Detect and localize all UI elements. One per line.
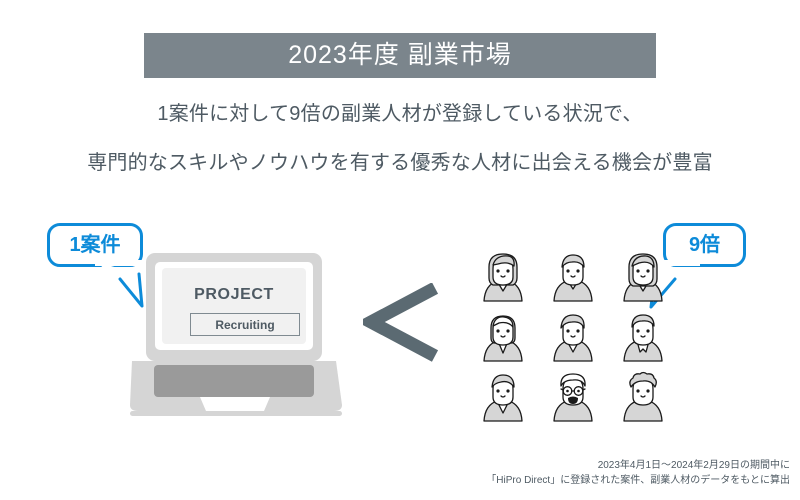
person-avatar-icon [538,245,608,305]
callout-bubble-left-label: 1案件 [69,235,120,255]
people-grid [468,245,678,425]
lead-paragraph: 1案件に対して9倍の副業人材が登録している状況で、 専門的なスキルやノウハウを有… [0,104,800,173]
person-avatar-icon [468,365,538,425]
lead-line-1: 1案件に対して9倍の副業人材が登録している状況で、 [0,104,800,124]
page-title: 2023年度 副業市場 [288,43,512,68]
person-avatar-icon [608,305,678,365]
page-title-banner: 2023年度 副業市場 [144,33,656,78]
person-avatar-icon [608,365,678,425]
person-avatar-icon [538,365,608,425]
footnote: 2023年4月1日〜2024年2月29日の期間中に 「HiPro Direct」… [486,459,790,488]
lead-line-2: 専門的なスキルやノウハウを有する優秀な人材に出会える機会が豊富 [0,153,800,173]
less-than-icon [363,283,443,363]
laptop-recruiting-button[interactable]: Recruiting [190,313,300,336]
person-avatar-icon [468,305,538,365]
footnote-line-1: 2023年4月1日〜2024年2月29日の期間中に [486,459,790,474]
footnote-line-2: 「HiPro Direct」に登録された案件、副業人材のデータをもとに算出 [486,474,790,489]
person-avatar-icon [538,305,608,365]
callout-bubble-right-label: 9倍 [689,235,720,255]
laptop-illustration: PROJECT Recruiting [128,253,363,418]
person-avatar-icon [608,245,678,305]
person-avatar-icon [468,245,538,305]
